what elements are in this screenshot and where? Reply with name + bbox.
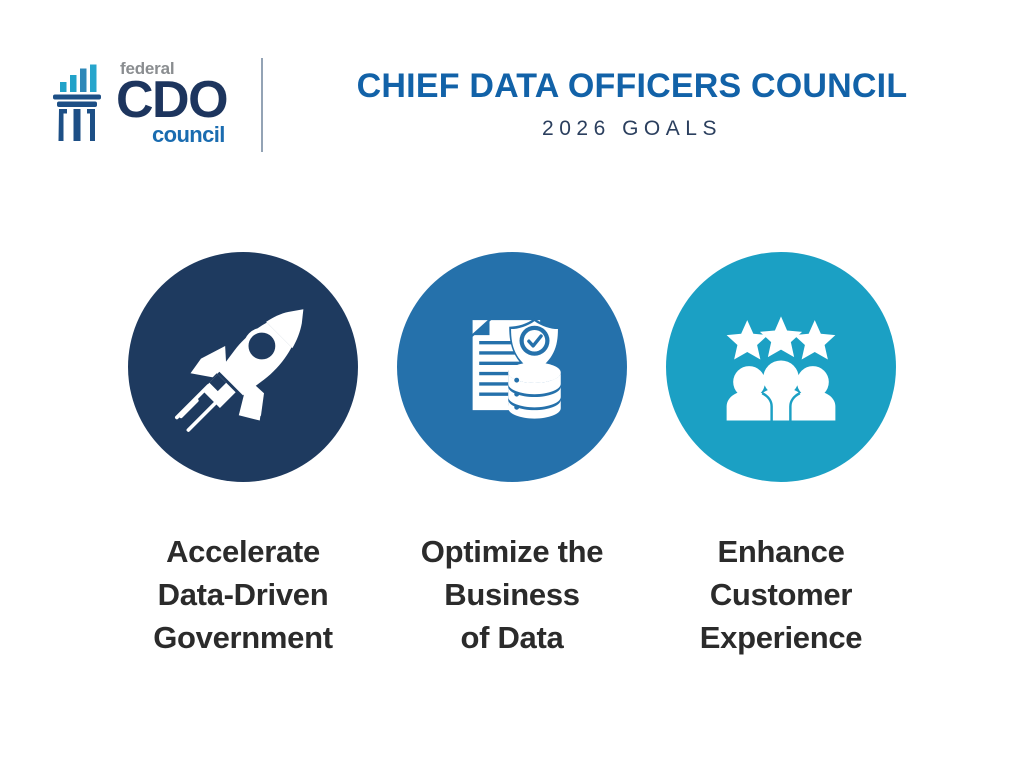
goal-card-enhance-customer-experience: Enhance Customer Experience	[656, 252, 906, 659]
goal-icon-circle-2	[397, 252, 627, 482]
page-title: CHIEF DATA OFFICERS COUNCIL	[357, 69, 908, 105]
slide-header: federal CDO council CHIEF DATA OFFICERS …	[0, 46, 1024, 162]
goal-icon-circle-3	[666, 252, 896, 482]
brand-cdo-text: CDO	[116, 74, 227, 126]
goal-label-2: Optimize the Business of Data	[421, 530, 603, 659]
goal-label-1: Accelerate Data-Driven Government	[153, 530, 333, 659]
goal-label-3: Enhance Customer Experience	[700, 530, 862, 659]
header-title-block: CHIEF DATA OFFICERS COUNCIL 2026 GOALS	[282, 46, 982, 162]
page-subtitle: 2026 GOALS	[542, 118, 722, 139]
goal-icon-circle-1	[128, 252, 358, 482]
rocket-icon	[159, 283, 327, 451]
three-stars-people-icon	[706, 292, 856, 442]
brand-lockup: federal CDO council	[48, 46, 248, 162]
goals-row: Accelerate Data-Driven Government	[118, 252, 906, 659]
brand-council-text: council	[152, 124, 225, 146]
document-shield-database-icon	[437, 292, 587, 442]
header-divider	[261, 58, 263, 152]
goal-card-accelerate-data-driven-government: Accelerate Data-Driven Government	[118, 252, 368, 659]
slide-root: federal CDO council CHIEF DATA OFFICERS …	[0, 0, 1024, 768]
brand-wordmark: federal CDO council	[112, 58, 244, 150]
goal-card-optimize-the-business-of-data: Optimize the Business of Data	[387, 252, 637, 659]
cdo-pillar-chart-logo-icon	[48, 63, 106, 145]
